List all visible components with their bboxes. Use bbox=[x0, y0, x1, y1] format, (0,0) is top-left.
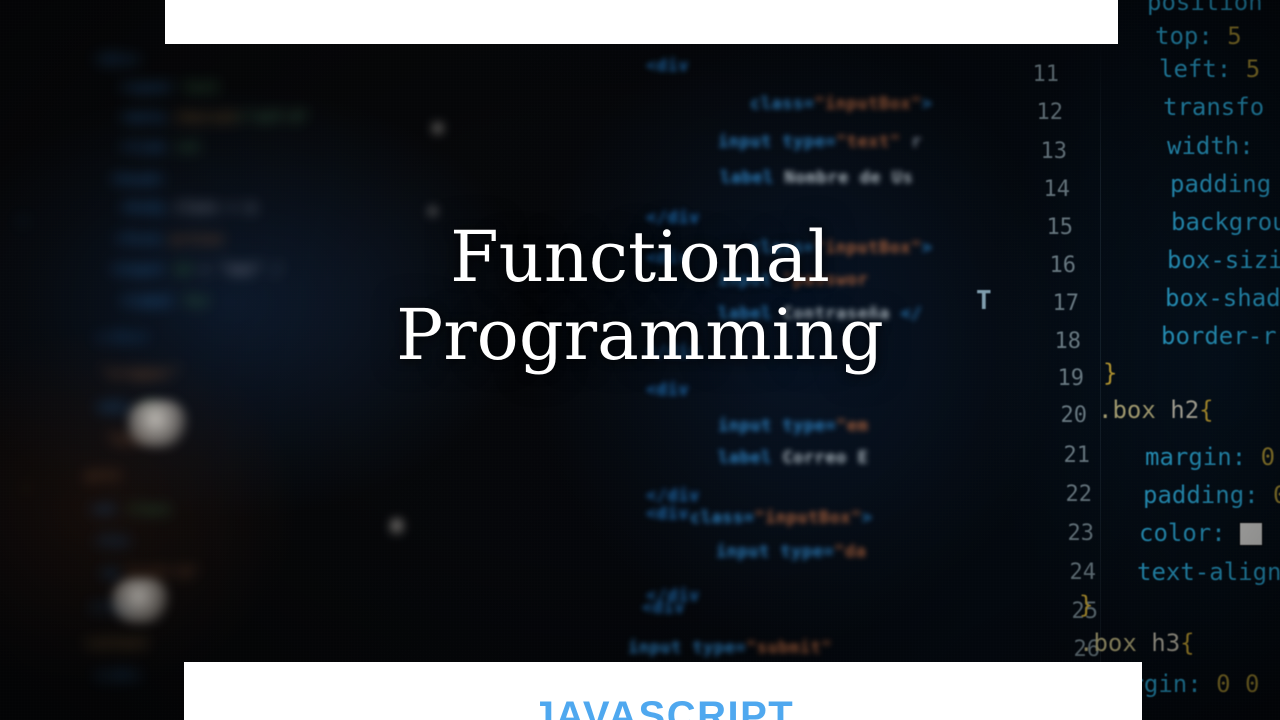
background-code-left: <div> <span> text <meta charset="utf-8" … bbox=[0, 0, 430, 720]
background-code-right: 10 position top: 5 11 left: 5 12 transfo… bbox=[995, 0, 1280, 720]
stray-t-glyph: T bbox=[976, 286, 992, 316]
bottom-white-panel: JAVASCRIPT bbox=[184, 662, 1142, 720]
header-card: <div> <span> text <meta charset="utf-8" … bbox=[0, 0, 1280, 720]
color-swatch bbox=[1240, 523, 1262, 545]
top-white-panel bbox=[165, 0, 1118, 44]
background-code-middle: <div class="inputBox"> input type="text"… bbox=[600, 0, 970, 720]
subtitle-javascript: JAVASCRIPT bbox=[184, 696, 1142, 720]
